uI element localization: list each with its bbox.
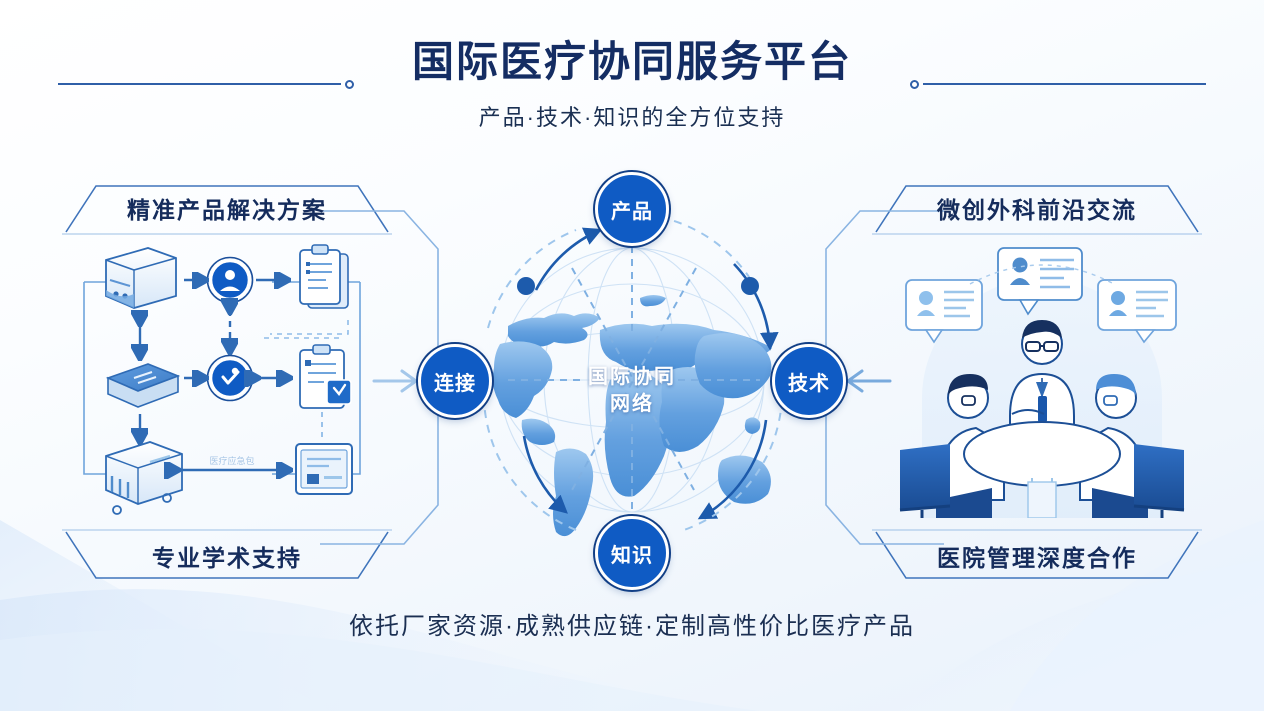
hub-center-line2: 网络 xyxy=(588,391,676,418)
hub-node-label: 连接 xyxy=(434,367,476,396)
device-plate-icon xyxy=(108,364,178,407)
hub-node-connect[interactable]: 连接 xyxy=(418,344,492,418)
hub-center-line1: 国际协同 xyxy=(588,364,676,391)
hub-center-label: 国际协同 网络 xyxy=(588,364,676,418)
hub-node-label: 知识 xyxy=(611,539,653,568)
orbit-dot-right xyxy=(741,277,759,295)
hub-node-label: 产品 xyxy=(611,195,653,224)
label-text: 医院管理深度合作 xyxy=(937,539,1137,573)
workflow-diagram: 医疗应急包 xyxy=(72,238,372,518)
hub-node-label: 技术 xyxy=(788,367,830,396)
orbit-dot-left xyxy=(517,277,535,295)
page-title: 国际医疗协同服务平台 xyxy=(0,38,1264,86)
slide-canvas: 国际医疗协同服务平台 产品·技术·知识的全方位支持 精准产品解决方案 微创外科前… xyxy=(0,0,1264,711)
badge-person-icon xyxy=(208,258,253,303)
workflow-caption: 医疗应急包 xyxy=(209,455,254,466)
badge-verified-icon xyxy=(208,356,253,401)
product-solution-illustration: 医疗应急包 xyxy=(72,238,372,518)
hub-node-knowledge[interactable]: 知识 xyxy=(595,516,669,590)
header: 国际医疗协同服务平台 产品·技术·知识的全方位支持 xyxy=(0,38,1264,132)
footer-tagline: 依托厂家资源·成熟供应链·定制高性价比医疗产品 xyxy=(0,606,1264,641)
label-text: 专业学术支持 xyxy=(152,539,302,573)
hub-node-product[interactable]: 产品 xyxy=(595,172,669,246)
document-stack-icon xyxy=(300,245,348,308)
label-text: 微创外科前沿交流 xyxy=(937,191,1137,225)
device-cart-icon xyxy=(106,442,182,514)
label-text: 精准产品解决方案 xyxy=(127,191,327,225)
global-collaboration-hub: 国际协同 网络 产品 连接 技术 知识 xyxy=(404,168,860,592)
document-certificate-icon xyxy=(300,345,351,408)
device-printer-icon xyxy=(106,248,176,308)
chair-left xyxy=(900,444,950,518)
surgeon-exchange-illustration xyxy=(892,238,1192,518)
hub-node-tech[interactable]: 技术 xyxy=(772,344,846,418)
page-subtitle: 产品·技术·知识的全方位支持 xyxy=(0,100,1264,132)
monitor-report-icon xyxy=(296,444,352,494)
meeting-illustration xyxy=(892,238,1192,518)
chair-right xyxy=(1134,444,1184,518)
